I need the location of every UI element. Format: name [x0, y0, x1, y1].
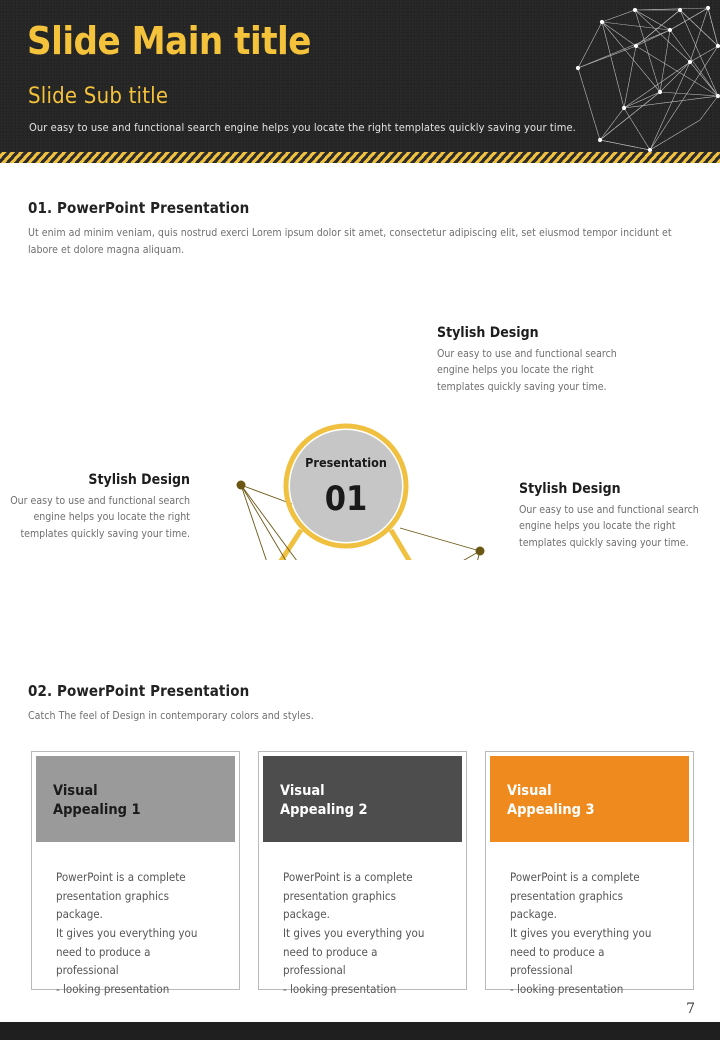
card-1-body: PowerPoint is a complete presentation gr…	[36, 842, 235, 998]
callout-03-heading: Stylish Design	[519, 481, 719, 497]
page-subtitle: Slide Sub title	[28, 84, 168, 109]
section-2-body: Catch The feel of Design in contemporary…	[28, 708, 508, 725]
callout-01-body: Our easy to use and functional search en…	[437, 346, 637, 395]
section-2-title: 02. PowerPoint Presentation	[28, 682, 249, 700]
footer-bar	[0, 1022, 720, 1040]
callout-01: Stylish Design Our easy to use and funct…	[437, 325, 637, 395]
card-2-body: PowerPoint is a complete presentation gr…	[263, 842, 462, 998]
card-3-body: PowerPoint is a complete presentation gr…	[490, 842, 689, 998]
callout-02-body: Our easy to use and functional search en…	[10, 493, 190, 542]
page-number: 7	[686, 1001, 695, 1017]
header-description: Our easy to use and functional search en…	[29, 121, 576, 134]
feature-card[interactable]: Visual Appealing 1 PowerPoint is a compl…	[31, 751, 240, 990]
callout-02: Stylish Design Our easy to use and funct…	[10, 472, 190, 542]
feature-card[interactable]: Visual Appealing 2 PowerPoint is a compl…	[258, 751, 467, 990]
hazard-stripe-divider	[0, 152, 720, 163]
diagram-dot	[476, 547, 485, 556]
node-01-label: Presentation	[305, 455, 387, 470]
callout-03-body: Our easy to use and functional search en…	[519, 502, 719, 551]
page-title: Slide Main title	[27, 22, 311, 60]
callout-03: Stylish Design Our easy to use and funct…	[519, 481, 719, 551]
slide-header: Slide Main title Slide Sub title Our eas…	[0, 0, 720, 152]
card-1-header: Visual Appealing 1	[36, 756, 235, 842]
node-01-number: 01	[325, 479, 368, 519]
diagram-node-01[interactable]: Presentation 01	[286, 426, 406, 546]
card-2-header: Visual Appealing 2	[263, 756, 462, 842]
feature-card[interactable]: Visual Appealing 3 PowerPoint is a compl…	[485, 751, 694, 990]
diagram-dot	[237, 481, 246, 490]
card-3-header: Visual Appealing 3	[490, 756, 689, 842]
callout-01-heading: Stylish Design	[437, 325, 637, 341]
callout-02-heading: Stylish Design	[10, 472, 190, 488]
